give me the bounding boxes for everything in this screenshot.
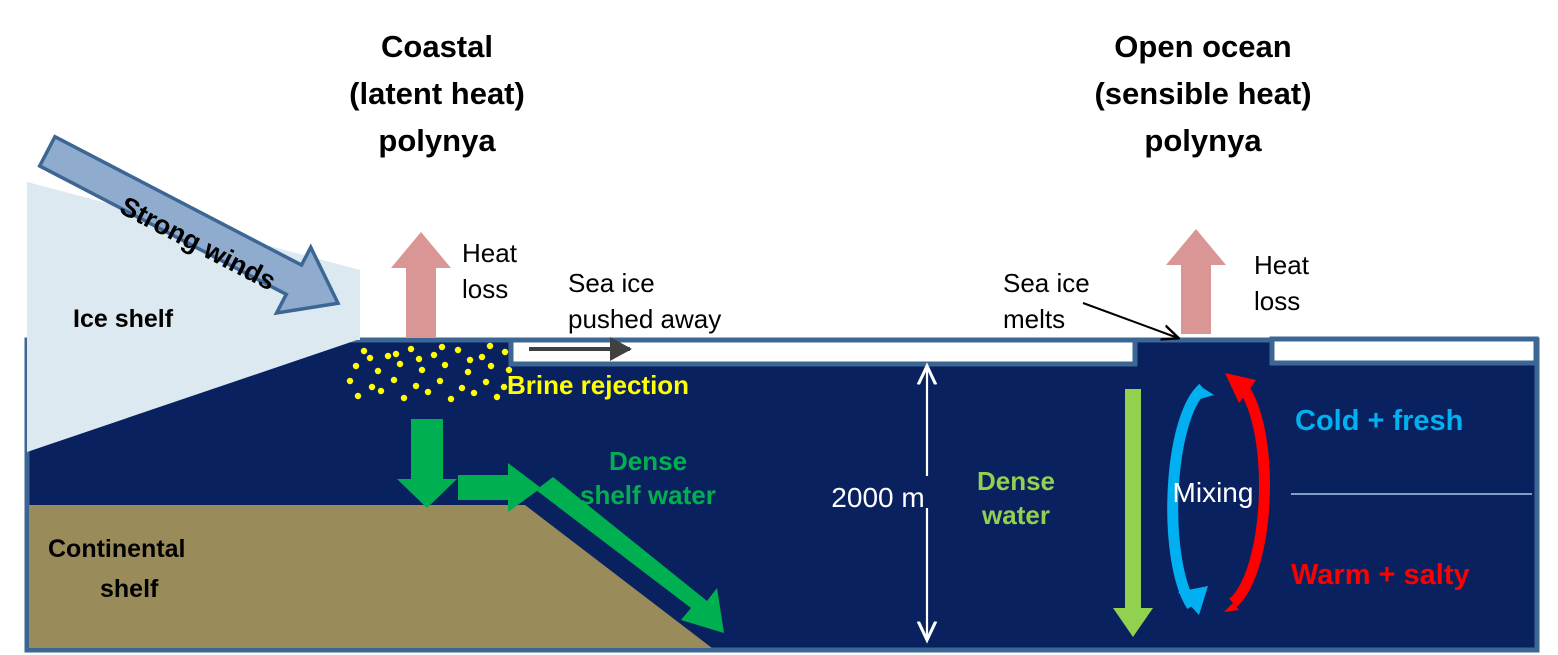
dense-shelf-water-label-line1: Dense [609, 446, 687, 476]
heat-loss-right-label-line2: loss [1254, 286, 1300, 316]
dense-water-label-line1: Dense [977, 466, 1055, 496]
diagram-canvas: Continental shelf Ice shelf [0, 0, 1558, 655]
sea-ice-pushed-label-line1: Sea ice [568, 268, 655, 298]
title-left-line3: polynya [378, 123, 496, 158]
title-right-group: Open ocean (sensible heat) polynya [1094, 29, 1311, 158]
heat-loss-right-group: Heat loss [1166, 229, 1310, 334]
continental-shelf-label-line1: Continental [48, 535, 186, 563]
title-left-line1: Coastal [381, 29, 493, 64]
warm-salty-label: Warm + salty [1291, 559, 1470, 591]
sea-ice-pushed-away-group: Sea ice pushed away [568, 268, 721, 334]
sea-ice-melts-pointer [1083, 303, 1178, 338]
heat-loss-left-label-line2: loss [462, 274, 508, 304]
polynya-cross-section-svg: Continental shelf Ice shelf [0, 0, 1558, 655]
depth-scale-label: 2000 m [831, 482, 924, 513]
sea-ice-group [511, 339, 1536, 364]
heat-loss-right-label-line1: Heat [1254, 250, 1310, 280]
continental-shelf-label-line2: shelf [100, 575, 159, 603]
title-left-line2: (latent heat) [349, 76, 525, 111]
heat-loss-left-label-line1: Heat [462, 238, 518, 268]
heat-loss-right-arrow [1166, 229, 1226, 334]
cold-fresh-label: Cold + fresh [1295, 405, 1463, 437]
brine-rejection-label: Brine rejection [507, 370, 689, 400]
dense-water-label-line2: water [981, 500, 1050, 530]
sea-ice-melts-label-line2: melts [1003, 304, 1065, 334]
mixing-label: Mixing [1173, 477, 1254, 508]
heat-loss-left-group: Heat loss [391, 232, 518, 338]
ice-shelf-label: Ice shelf [73, 305, 174, 333]
sea-ice-pushed-label-line2: pushed away [568, 304, 721, 334]
title-right-line3: polynya [1144, 123, 1262, 158]
sea-ice-melts-group: Sea ice melts [1003, 268, 1178, 338]
sea-ice-slab-right [1272, 339, 1536, 363]
heat-loss-left-arrow [391, 232, 451, 338]
sea-ice-slab-left [511, 340, 1135, 364]
title-right-line1: Open ocean [1114, 29, 1291, 64]
dense-shelf-water-label-line2: shelf water [580, 480, 716, 510]
title-right-line2: (sensible heat) [1094, 76, 1311, 111]
sea-ice-melts-label-line1: Sea ice [1003, 268, 1090, 298]
title-left-group: Coastal (latent heat) polynya [349, 29, 525, 158]
